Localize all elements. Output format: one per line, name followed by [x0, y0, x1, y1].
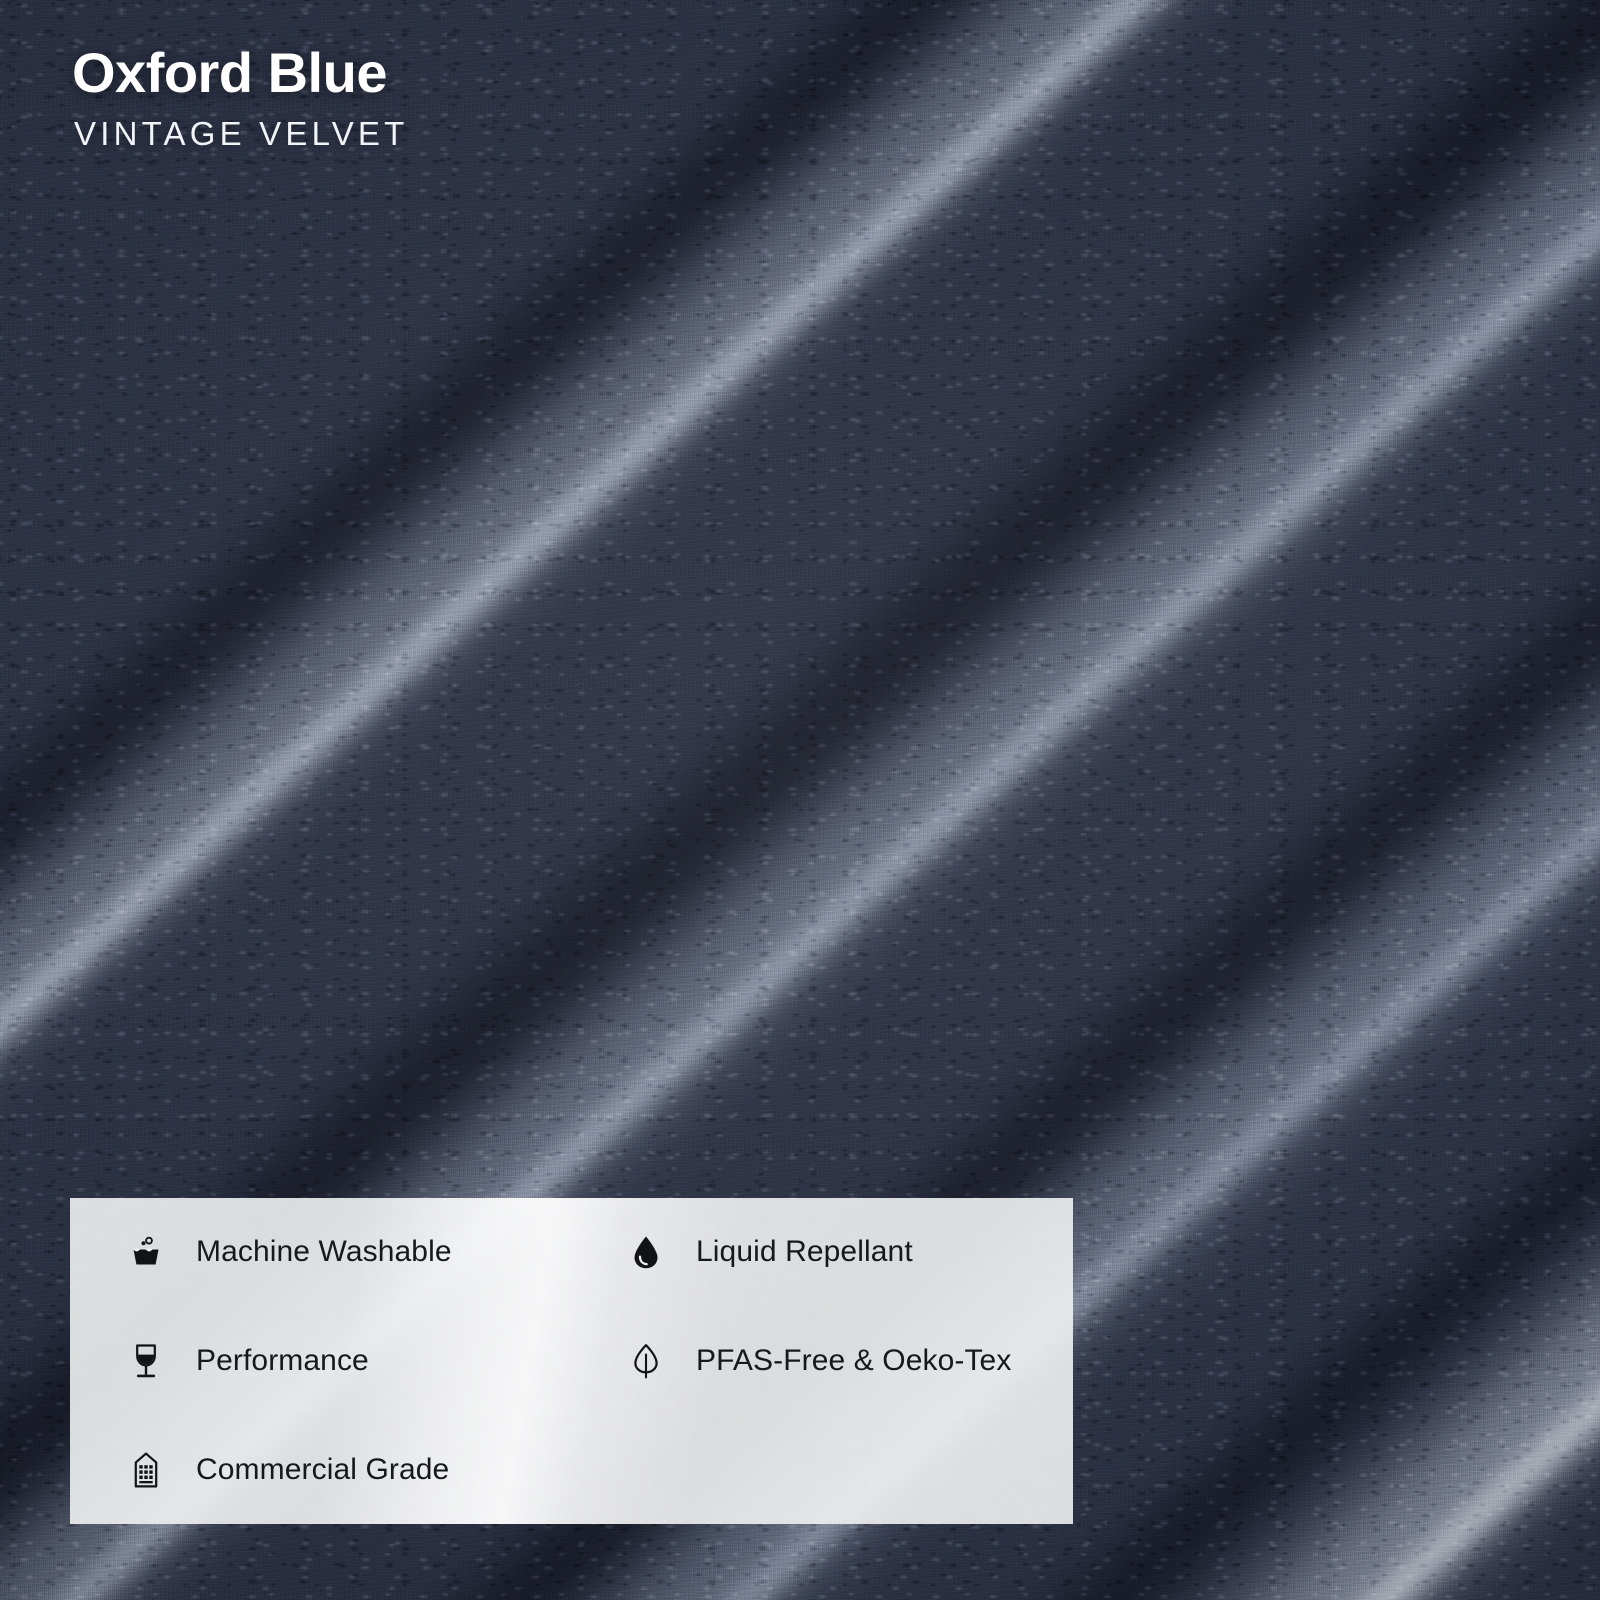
- wine-glass-icon: [124, 1339, 168, 1383]
- building-icon: [124, 1448, 168, 1492]
- feature-label: PFAS-Free & Oeko-Tex: [696, 1344, 1011, 1378]
- wash-tub-icon: [124, 1230, 168, 1274]
- feature-item-commercial-grade: Commercial Grade: [70, 1415, 570, 1524]
- leaf-icon: [624, 1339, 668, 1383]
- feature-panel: Machine Washable Liquid Repellant: [70, 1198, 1073, 1524]
- feature-item-machine-washable: Machine Washable: [70, 1198, 570, 1307]
- feature-label: Performance: [196, 1344, 369, 1378]
- header: Oxford Blue VINTAGE VELVET: [72, 44, 408, 150]
- feature-label: Liquid Repellant: [696, 1235, 913, 1269]
- feature-item-performance: Performance: [70, 1307, 570, 1416]
- feature-item-liquid-repellant: Liquid Repellant: [570, 1198, 1073, 1307]
- page-subtitle: VINTAGE VELVET: [74, 117, 408, 150]
- product-swatch-card: Oxford Blue VINTAGE VELVET Machine Washa…: [0, 0, 1600, 1600]
- water-droplet-icon: [624, 1230, 668, 1274]
- page-title: Oxford Blue: [72, 44, 408, 103]
- feature-item-pfas-free-oeko-tex: PFAS-Free & Oeko-Tex: [570, 1307, 1073, 1416]
- feature-label: Machine Washable: [196, 1235, 452, 1269]
- feature-label: Commercial Grade: [196, 1453, 449, 1487]
